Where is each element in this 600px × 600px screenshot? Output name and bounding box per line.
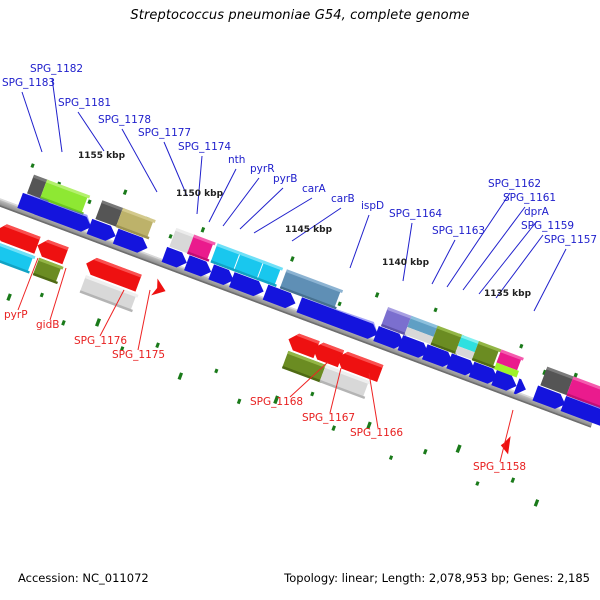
gene-label-spg_1159[interactable]: SPG_1159: [521, 220, 574, 232]
gene-label-spg_1163[interactable]: SPG_1163: [432, 225, 485, 237]
position-tick-label: 1145 kbp: [285, 225, 333, 235]
accession-text: Accession: NC_011072: [18, 571, 149, 585]
gene-label-spg_1157[interactable]: SPG_1157: [544, 234, 597, 246]
gene-label-spg_1174[interactable]: SPG_1174: [178, 141, 231, 153]
gene-label-spg_1162[interactable]: SPG_1162: [488, 178, 541, 190]
position-tick-label: 1140 kbp: [382, 258, 430, 268]
gene-label-spg_1182[interactable]: SPG_1182: [30, 63, 83, 75]
position-tick-label: 1150 kbp: [176, 189, 224, 199]
gene-label-spg_1177[interactable]: SPG_1177: [138, 127, 191, 139]
reverse-arrow-icon: [151, 278, 169, 299]
gene-label-ispd[interactable]: ispD: [361, 200, 384, 212]
gene-label-dpra[interactable]: dprA: [524, 206, 550, 218]
gene-label-carb[interactable]: carB: [331, 193, 355, 205]
gene-label-spg_1158[interactable]: SPG_1158: [473, 461, 526, 473]
gene-label-nth[interactable]: nth: [228, 154, 245, 166]
gene-label-pyrb[interactable]: pyrB: [273, 173, 297, 185]
gene-label-spg_1167[interactable]: SPG_1167: [302, 412, 355, 424]
gene-label-spg_1166[interactable]: SPG_1166: [350, 427, 403, 439]
position-tick-label: 1155 kbp: [78, 151, 126, 161]
gene-label-spg_1161[interactable]: SPG_1161: [503, 192, 556, 204]
gene-label-pyrr[interactable]: pyrR: [250, 163, 275, 175]
gene-label-spg_1176[interactable]: SPG_1176: [74, 335, 127, 347]
gene-label-spg_1181[interactable]: SPG_1181: [58, 97, 111, 109]
genome-map-viewer: Streptococcus pneumoniae G54, complete g…: [0, 0, 600, 600]
genome-map-canvas: SPG_1183SPG_1182SPG_1181SPG_1178SPG_1177…: [0, 0, 600, 600]
position-tick-label: 1135 kbp: [484, 289, 532, 299]
gene-label-spg_1168[interactable]: SPG_1168: [250, 396, 303, 408]
gene-label-spg_1175[interactable]: SPG_1175: [112, 349, 165, 361]
genome-summary-text: Topology: linear; Length: 2,078,953 bp; …: [284, 571, 590, 585]
gene-label-spg_1183[interactable]: SPG_1183: [2, 77, 55, 89]
gene-label-cara[interactable]: carA: [302, 183, 327, 195]
gene-label-spg_1164[interactable]: SPG_1164: [389, 208, 442, 220]
gene-label-spg_1178[interactable]: SPG_1178: [98, 114, 151, 126]
gene-label-pyrp[interactable]: pyrP: [4, 309, 28, 321]
gene-label-gidb[interactable]: gidB: [36, 319, 59, 331]
